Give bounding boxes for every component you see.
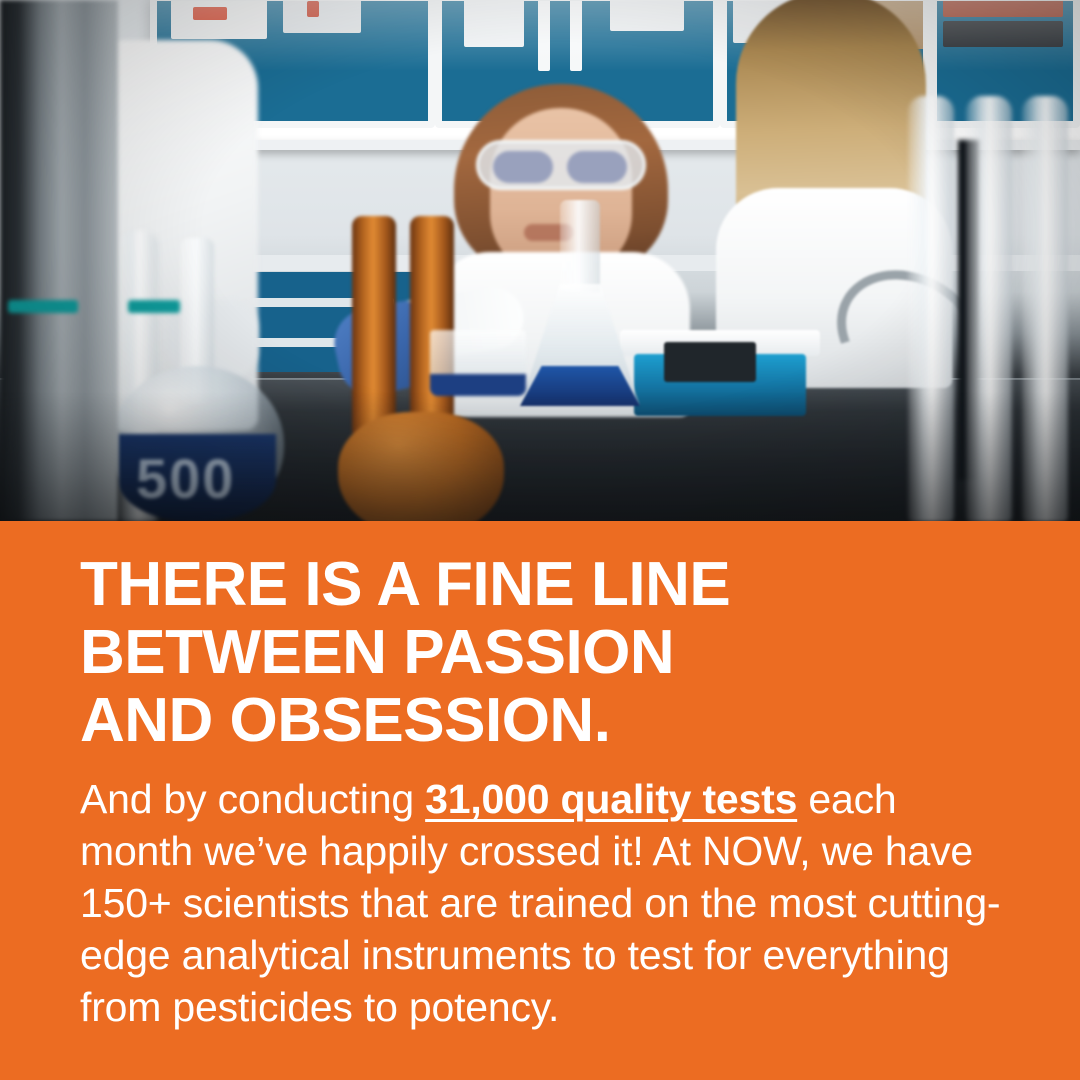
body-segment-1: And by conducting [80,776,425,822]
headline-line-3: AND OBSESSION. [80,687,1020,755]
headline-line-1: THERE IS A FINE LINE [80,551,1020,619]
orange-message-panel: THERE IS A FINE LINE BETWEEN PASSION AND… [0,521,1080,1080]
headline: THERE IS A FINE LINE BETWEEN PASSION AND… [80,551,1020,755]
body-paragraph: And by conducting 31,000 quality tests e… [80,773,1010,1033]
photo-vignette [0,0,1080,521]
social-graphic-canvas: 500 THERE IS A FINE LINE [0,0,1080,1080]
lab-photo: 500 [0,0,1080,521]
headline-line-2: BETWEEN PASSION [80,619,1020,687]
emphasis-quality-tests: 31,000 quality tests [425,776,797,822]
